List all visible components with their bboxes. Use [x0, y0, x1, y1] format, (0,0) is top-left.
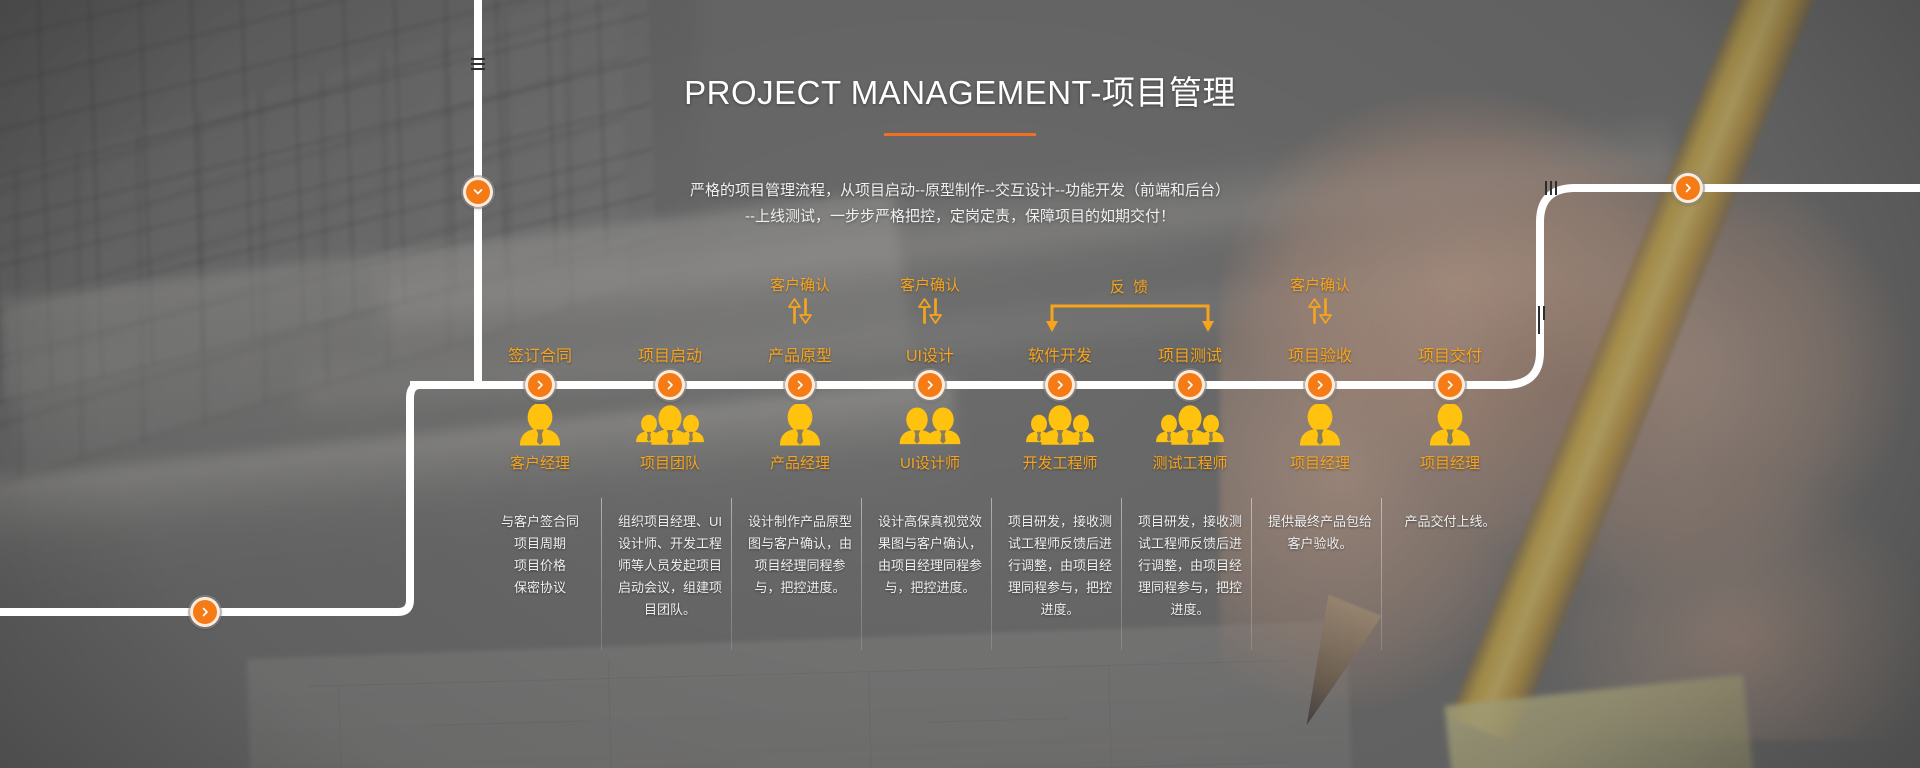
- group-people-icon: [605, 404, 735, 452]
- customer-confirm-label: 客户确认: [770, 277, 830, 294]
- step-label-sign-contract: 签订合同: [475, 347, 605, 367]
- single-person-icon: [475, 404, 605, 452]
- step-node-project-acceptance[interactable]: [1305, 370, 1335, 400]
- step-description-project-kickoff: 组织项目经理、UI设计师、开发工程师等人员发起项目启动会议，组建项目团队。: [613, 511, 727, 621]
- role-label-project-delivery: 项目经理: [1385, 455, 1515, 473]
- role-label-project-testing: 测试工程师: [1125, 455, 1255, 473]
- role-block-project-testing: 测试工程师: [1125, 404, 1255, 473]
- chevron-right-icon: [794, 379, 806, 391]
- step-description-product-prototype: 设计制作产品原型图与客户确认，由项目经理同程参与，把控进度。: [743, 511, 857, 599]
- single-person-icon: [735, 404, 865, 452]
- description-line: 项目价格: [483, 555, 597, 577]
- single-person-icon: [1255, 404, 1385, 452]
- role-block-project-delivery: 项目经理: [1385, 404, 1515, 473]
- step-label-project-acceptance: 项目验收: [1255, 347, 1385, 367]
- role-block-sign-contract: 客户经理: [475, 404, 605, 473]
- project-management-timeline-page: PROJECT MANAGEMENT-项目管理 严格的项目管理流程，从项目启动-…: [0, 0, 1920, 768]
- chevron-right-icon: [1054, 379, 1066, 391]
- description-line: 与客户签合同: [483, 511, 597, 533]
- foreground-content: PROJECT MANAGEMENT-项目管理 严格的项目管理流程，从项目启动-…: [0, 0, 1920, 768]
- step-label-software-development: 软件开发: [995, 347, 1125, 367]
- customer-confirm-product-prototype: 客户确认: [735, 276, 865, 329]
- step-label-project-testing: 项目测试: [1125, 347, 1255, 367]
- column-divider: [991, 498, 992, 650]
- role-block-project-kickoff: 项目团队: [605, 404, 735, 473]
- timeline-steps: 签订合同客户经理与客户签合同项目周期项目价格保密协议项目启动项目团队组织项目经理…: [0, 0, 1920, 768]
- column-divider: [1121, 498, 1122, 650]
- group-people-icon: [995, 404, 1125, 452]
- chevron-right-icon: [664, 379, 676, 391]
- up-down-arrows-icon: [735, 298, 865, 329]
- step-label-ui-design: UI设计: [865, 347, 995, 367]
- step-node-sign-contract[interactable]: [525, 370, 555, 400]
- column-divider: [731, 498, 732, 650]
- step-description-ui-design: 设计高保真视觉效果图与客户确认，由项目经理同程参与，把控进度。: [873, 511, 987, 599]
- chevron-right-icon: [1314, 379, 1326, 391]
- description-line: 保密协议: [483, 577, 597, 599]
- step-label-project-delivery: 项目交付: [1385, 347, 1515, 367]
- column-divider: [601, 498, 602, 650]
- step-node-product-prototype[interactable]: [785, 370, 815, 400]
- step-node-project-kickoff[interactable]: [655, 370, 685, 400]
- column-divider: [1381, 498, 1382, 650]
- column-divider: [1251, 498, 1252, 650]
- step-node-project-delivery[interactable]: [1435, 370, 1465, 400]
- up-down-arrows-icon: [865, 298, 995, 329]
- step-description-project-delivery: 产品交付上线。: [1393, 511, 1507, 533]
- step-label-product-prototype: 产品原型: [735, 347, 865, 367]
- role-block-ui-design: UI设计师: [865, 404, 995, 473]
- step-node-ui-design[interactable]: [915, 370, 945, 400]
- column-divider: [861, 498, 862, 650]
- role-block-project-acceptance: 项目经理: [1255, 404, 1385, 473]
- step-label-project-kickoff: 项目启动: [605, 347, 735, 367]
- customer-confirm-ui-design: 客户确认: [865, 276, 995, 329]
- step-description-project-testing: 项目研发，接收测试工程师反馈后进行调整，由项目经理同程参与，把控进度。: [1133, 511, 1247, 621]
- step-description-project-acceptance: 提供最终产品包给客户验收。: [1263, 511, 1377, 555]
- chevron-right-icon: [534, 379, 546, 391]
- step-node-project-testing[interactable]: [1175, 370, 1205, 400]
- single-person-icon: [1385, 404, 1515, 452]
- customer-confirm-project-acceptance: 客户确认: [1255, 276, 1385, 329]
- role-label-product-prototype: 产品经理: [735, 455, 865, 473]
- role-label-project-acceptance: 项目经理: [1255, 455, 1385, 473]
- customer-confirm-label: 客户确认: [1290, 277, 1350, 294]
- chevron-right-icon: [1184, 379, 1196, 391]
- description-line: 项目周期: [483, 533, 597, 555]
- role-label-project-kickoff: 项目团队: [605, 455, 735, 473]
- role-block-product-prototype: 产品经理: [735, 404, 865, 473]
- step-node-software-development[interactable]: [1045, 370, 1075, 400]
- role-label-software-development: 开发工程师: [995, 455, 1125, 473]
- up-down-arrows-icon: [1255, 298, 1385, 329]
- chevron-right-icon: [924, 379, 936, 391]
- role-block-software-development: 开发工程师: [995, 404, 1125, 473]
- chevron-right-icon: [1444, 379, 1456, 391]
- step-description-sign-contract: 与客户签合同项目周期项目价格保密协议: [483, 511, 597, 599]
- step-description-software-development: 项目研发，接收测试工程师反馈后进行调整，由项目经理同程参与，把控进度。: [1003, 511, 1117, 621]
- two-people-icon: [865, 404, 995, 452]
- group-people-icon: [1125, 404, 1255, 452]
- customer-confirm-label: 客户确认: [900, 277, 960, 294]
- role-label-ui-design: UI设计师: [865, 455, 995, 473]
- role-label-sign-contract: 客户经理: [475, 455, 605, 473]
